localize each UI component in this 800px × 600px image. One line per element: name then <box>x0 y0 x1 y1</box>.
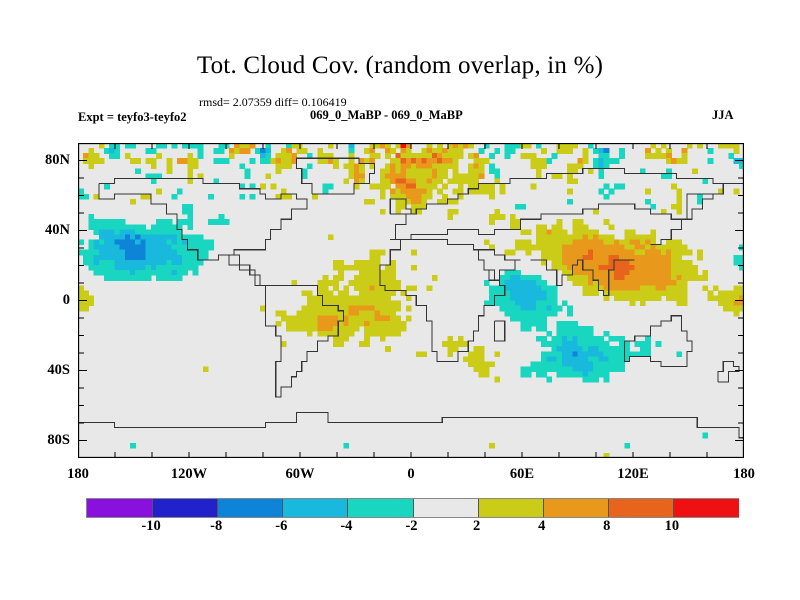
y-axis-label-80N-0: 80N <box>30 152 70 169</box>
x-axis-label-0-3: 0 <box>407 466 414 483</box>
colorbar-segment-6 <box>478 499 544 517</box>
colorbar-segment-3 <box>282 499 348 517</box>
x-axis-label-120W-1: 120W <box>171 466 207 483</box>
x-axis-label-120E-5: 120E <box>617 466 648 483</box>
y-axis-label-80S-4: 80S <box>30 432 70 449</box>
colorbar-tick--8: -8 <box>210 518 222 535</box>
page-title: Tot. Cloud Cov. (random overlap, in %) <box>0 52 800 80</box>
colorbar-tick--6: -6 <box>275 518 287 535</box>
y-axis-label-0-2: 0 <box>30 292 70 309</box>
x-axis-label-180-6: 180 <box>733 466 755 483</box>
colorbar-segment-5 <box>413 499 479 517</box>
colorbar-segment-2 <box>217 499 283 517</box>
colorbar-tick--2: -2 <box>405 518 417 535</box>
x-axis-label-60E-4: 60E <box>510 466 534 483</box>
colorbar-tick-2: 2 <box>473 518 480 535</box>
x-axis-label-60W-2: 60W <box>286 466 315 483</box>
colorbar-tick--10: -10 <box>141 518 160 535</box>
y-axis-label-40N-1: 40N <box>30 222 70 239</box>
colorbar-segment-4 <box>347 499 413 517</box>
colorbar-segment-7 <box>543 499 609 517</box>
colorbar-tick--4: -4 <box>340 518 352 535</box>
colorbar-tick-4: 4 <box>538 518 545 535</box>
map-plot-area <box>78 143 744 458</box>
season-label: JJA <box>712 108 734 123</box>
colorbar-segment-9 <box>673 499 739 517</box>
colorbar <box>86 498 739 518</box>
experiment-label: Expt = teyfo3-teyfo2 <box>78 110 186 125</box>
case-label: 069_0_MaBP - 069_0_MaBP <box>310 108 463 123</box>
colorbar-tick-10: 10 <box>665 518 680 535</box>
y-axis-label-40S-3: 40S <box>30 362 70 379</box>
colorbar-segment-8 <box>608 499 674 517</box>
colorbar-tick-8: 8 <box>603 518 610 535</box>
anomaly-map <box>78 143 744 458</box>
colorbar-segment-0 <box>87 499 152 517</box>
colorbar-segment-1 <box>152 499 218 517</box>
x-axis-label-180-0: 180 <box>67 466 89 483</box>
